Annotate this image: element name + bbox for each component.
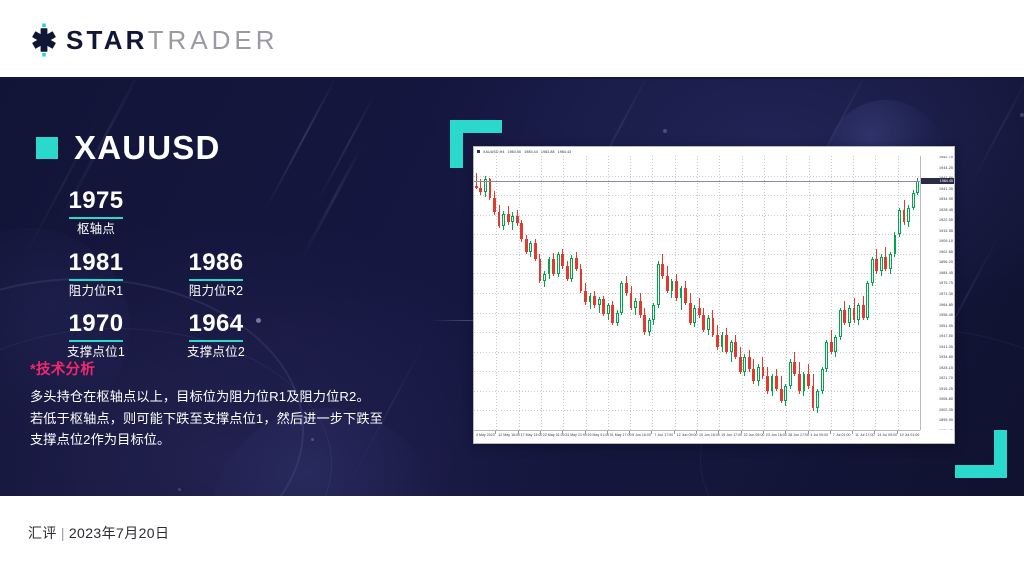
candlestick	[575, 156, 578, 430]
candlestick	[839, 156, 842, 430]
time-tick-label: 4 Jul 09:00	[811, 434, 829, 438]
candlestick	[529, 156, 532, 430]
time-axis[interactable]: 4 May 202312 May 16:0017 May 13:0022 May…	[474, 430, 920, 443]
candlestick	[502, 156, 505, 430]
candlestick	[625, 156, 628, 430]
candlestick	[843, 156, 846, 430]
candlestick	[584, 156, 587, 430]
pivot-value: 1964	[156, 311, 276, 337]
candlestick	[634, 156, 637, 430]
candlestick	[548, 156, 551, 430]
candlestick	[520, 156, 523, 430]
price-tick-label: 1928.45	[939, 209, 953, 213]
candlestick	[607, 156, 610, 430]
candlestick	[721, 156, 724, 430]
candlestick	[552, 156, 555, 430]
pivot-value: 1986	[156, 250, 276, 276]
candlestick	[684, 156, 687, 430]
footer-label: 汇评	[28, 525, 57, 541]
brand-name-light: TRADER	[148, 25, 279, 55]
candlestick	[784, 156, 787, 430]
price-tick-label: 1909.10	[939, 240, 953, 244]
candlestick	[771, 156, 774, 430]
technical-analysis-line: 若低于枢轴点，则可能下跌至支撑点位1，然后进一步下跌至	[30, 408, 402, 429]
candlestick	[821, 156, 824, 430]
candlestick	[493, 156, 496, 430]
candlestick	[489, 156, 492, 430]
candlestick	[812, 156, 815, 430]
candlestick	[657, 156, 660, 430]
chart-ohlc-open: 1984.50	[507, 150, 521, 154]
time-tick-label: 23 Jun 16:00	[766, 434, 787, 438]
candlestick	[698, 156, 701, 430]
pivot-label: 阻力位R2	[156, 285, 276, 299]
symbol-title-row: XAUUSD	[36, 131, 221, 164]
footer-separator: |	[61, 525, 65, 541]
chart-ohlc-close: 1984.43	[558, 150, 572, 154]
candlestick	[484, 156, 487, 430]
candlestick	[866, 156, 869, 430]
pivot-row: 1970 支撑点位1 1964 支撑点位2	[36, 311, 336, 360]
pivot-value: 1981	[36, 250, 156, 276]
pivot-row: 1975 枢轴点	[36, 188, 336, 237]
candlestick	[748, 156, 751, 430]
time-tick-label: 15 Jun 16:00	[699, 434, 720, 438]
candlestick	[539, 156, 542, 430]
price-tick-label: 1921.70	[939, 377, 953, 381]
pivot-row: 1981 阻力位R1 1986 阻力位R2	[36, 250, 336, 299]
footer-date: 2023年7月20日	[69, 525, 170, 541]
candlestick	[862, 156, 865, 430]
candlestick	[739, 156, 742, 430]
time-tick-label: 24 May 21:00	[565, 434, 587, 438]
candlestick	[884, 156, 887, 430]
price-tick-label: 1908.80	[939, 398, 953, 402]
candlestick	[889, 156, 892, 430]
candlestick	[834, 156, 837, 430]
candlestick	[766, 156, 769, 430]
page-header: STARTRADER	[0, 0, 1024, 78]
time-tick-label: 11 Jul 17:00	[855, 434, 874, 438]
price-tick-label: 1915.55	[939, 230, 953, 234]
candlestick	[780, 156, 783, 430]
candlestick	[693, 156, 696, 430]
price-chart[interactable]: XAUUSD,H4 1984.50 1985.44 1983.88 1984.4…	[473, 146, 955, 444]
candlestick	[652, 156, 655, 430]
technical-analysis-line: 支撑点位2作为目标位。	[30, 429, 402, 450]
price-tick-label: 1915.25	[939, 388, 953, 392]
brand-wordmark: STARTRADER	[66, 27, 279, 53]
resistance-1-cell: 1981 阻力位R1	[36, 250, 156, 299]
time-tick-label: 7 Jul 01:00	[833, 434, 851, 438]
pivot-underline	[69, 340, 123, 342]
candlestick	[871, 156, 874, 430]
time-tick-label: 12 Jun 09:00	[677, 434, 698, 438]
candlestick	[675, 156, 678, 430]
candlestick	[557, 156, 560, 430]
candlestick	[880, 156, 883, 430]
price-tick-label: 1952.70	[939, 156, 953, 160]
technical-analysis-block: *技术分析 多头持仓在枢轴点以上，目标位为阻力位R1及阻力位R2。 若低于枢轴点…	[30, 362, 402, 451]
candlestick	[798, 156, 801, 430]
candlestick	[825, 156, 828, 430]
candlestick	[630, 156, 633, 430]
header-divider	[0, 77, 1024, 79]
candlestick	[666, 156, 669, 430]
current-price-label: 1984.45	[920, 178, 954, 184]
price-tick-label: 1941.05	[939, 346, 953, 350]
support-2-cell: 1964 支撑点位2	[156, 311, 276, 360]
symbol-square-marker	[36, 137, 58, 159]
candlestick	[525, 156, 528, 430]
candlestick	[857, 156, 860, 430]
pivot-underline	[69, 279, 123, 281]
time-tick-label: 4 May 2023	[476, 434, 495, 438]
price-tick-label: 1975.75	[939, 282, 953, 286]
candlestick	[475, 156, 478, 430]
candlestick	[543, 156, 546, 430]
candlestick	[611, 156, 614, 430]
technical-analysis-heading: *技术分析	[30, 362, 402, 379]
candlestick	[566, 156, 569, 430]
candlestick	[903, 156, 906, 430]
candlestick	[511, 156, 514, 430]
candlestick	[702, 156, 705, 430]
candlestick	[639, 156, 642, 430]
candlestick	[648, 156, 651, 430]
candlestick	[752, 156, 755, 430]
time-tick-label: 22 Jun 09:00	[744, 434, 765, 438]
candlestick	[916, 156, 919, 430]
candlestick	[803, 156, 806, 430]
candlestick	[762, 156, 765, 430]
pivot-value: 1975	[36, 188, 156, 214]
candlestick	[570, 156, 573, 430]
price-axis[interactable]: 1952.701944.251947.801941.351934.901928.…	[920, 156, 954, 430]
candlestick	[689, 156, 692, 430]
chart-ohlc-high: 1985.44	[524, 150, 538, 154]
pivot-label: 支撑点位2	[156, 346, 276, 360]
candlestick	[907, 156, 910, 430]
page-title: XAUUSD	[74, 131, 221, 164]
candlestick	[730, 156, 733, 430]
candlestick	[620, 156, 623, 430]
pivot-label: 枢轴点	[36, 223, 156, 237]
crosshair-price-line	[474, 181, 920, 182]
corner-bracket-top-left	[450, 120, 502, 168]
candlestick	[580, 156, 583, 430]
pivot-underline	[189, 340, 243, 342]
analysis-card: STARTRADER	[0, 0, 1024, 576]
candlestick	[789, 156, 792, 430]
chart-ohlc-low: 1983.88	[541, 150, 555, 154]
support-1-cell: 1970 支撑点位1	[36, 311, 156, 360]
technical-analysis-body: 多头持仓在枢轴点以上，目标位为阻力位R1及阻力位R2。 若低于枢轴点，则可能下跌…	[30, 386, 402, 450]
candlestick	[848, 156, 851, 430]
candlestick	[616, 156, 619, 430]
price-tick-label: 1902.65	[939, 251, 953, 255]
time-tick-label: 22 May 01:00	[543, 434, 565, 438]
chart-header: XAUUSD,H4 1984.50 1985.44 1983.88 1984.4…	[474, 147, 954, 156]
time-tick-label: 31 May 17:00	[610, 434, 632, 438]
chart-plot-area[interactable]	[474, 156, 920, 430]
price-tick-label: 1928.15	[939, 367, 953, 371]
price-tick-label: 1947.50	[939, 335, 953, 339]
price-tick-label: 1971.30	[939, 293, 953, 297]
price-tick-label: 1941.35	[939, 188, 953, 192]
candlestick	[898, 156, 901, 430]
pivot-label: 支撑点位1	[36, 346, 156, 360]
candlestick	[507, 156, 510, 430]
corner-bracket-bottom-right	[955, 430, 1007, 478]
star-asterisk-icon	[27, 23, 61, 57]
candlestick	[602, 156, 605, 430]
candlestick	[661, 156, 664, 430]
time-tick-label: 12 May 16:00	[498, 434, 520, 438]
price-tick-label: 1944.25	[939, 167, 953, 171]
resistance-2-cell: 1986 阻力位R2	[156, 250, 276, 299]
brand-name-bold: STAR	[66, 25, 148, 55]
candlestick	[725, 156, 728, 430]
time-tick-label: 28 Jun 17:00	[788, 434, 809, 438]
candlestick	[516, 156, 519, 430]
candlestick	[680, 156, 683, 430]
price-tick-label: 1951.95	[939, 325, 953, 329]
candlestick	[707, 156, 710, 430]
price-tick-label: 1896.20	[939, 261, 953, 265]
time-tick-label: 17 May 13:00	[521, 434, 543, 438]
candlestick	[793, 156, 796, 430]
time-tick-label: 19 Jul 01:00	[900, 434, 920, 438]
price-tick-label: 1984.45	[939, 272, 953, 276]
time-tick-label: 29 May 01:00	[588, 434, 610, 438]
candlestick	[853, 156, 856, 430]
candlestick	[912, 156, 915, 430]
price-tick-label: 1902.35	[939, 409, 953, 413]
price-tick-label: 1922.00	[939, 219, 953, 223]
candlestick	[875, 156, 878, 430]
price-tick-label: 1934.90	[939, 198, 953, 202]
candlestick	[498, 156, 501, 430]
time-tick-label: 7 Jun 17:00	[654, 434, 673, 438]
candlestick	[598, 156, 601, 430]
candlestick	[816, 156, 819, 430]
page-footer: 汇评|2023年7月20日	[0, 496, 1024, 576]
candlestick	[671, 156, 674, 430]
candlestick	[830, 156, 833, 430]
candlestick	[757, 156, 760, 430]
candlestick	[534, 156, 537, 430]
price-tick-label: 1934.60	[939, 356, 953, 360]
candlestick	[775, 156, 778, 430]
pivot-value: 1970	[36, 311, 156, 337]
candlestick	[561, 156, 564, 430]
candlestick	[894, 156, 897, 430]
time-tick-label: 5 Jun 16:00	[632, 434, 651, 438]
technical-analysis-heading-text: 技术分析	[36, 362, 95, 378]
price-tick-label: 1964.85	[939, 304, 953, 308]
candlestick	[807, 156, 810, 430]
candlestick	[589, 156, 592, 430]
pivot-underline	[69, 217, 123, 219]
footer-caption: 汇评|2023年7月20日	[28, 523, 169, 543]
candlestick	[479, 156, 482, 430]
technical-analysis-line: 多头持仓在枢轴点以上，目标位为阻力位R1及阻力位R2。	[30, 386, 402, 407]
candlestick	[712, 156, 715, 430]
brand-logo[interactable]: STARTRADER	[27, 22, 279, 58]
pivot-levels: 1975 枢轴点 1981 阻力位R1 1986 阻力位R2	[36, 188, 336, 373]
candlestick	[716, 156, 719, 430]
candlestick	[593, 156, 596, 430]
candlestick	[743, 156, 746, 430]
price-tick-label: 1958.40	[939, 314, 953, 318]
candlestick	[643, 156, 646, 430]
pivot-underline	[189, 279, 243, 281]
pivot-label: 阻力位R1	[36, 285, 156, 299]
pivot-point-cell: 1975 枢轴点	[36, 188, 156, 237]
time-tick-label: 14 Jul 09:00	[877, 434, 897, 438]
candlestick	[734, 156, 737, 430]
price-tick-label: 1895.90	[939, 419, 953, 423]
time-tick-label: 19 Jun 17:00	[721, 434, 742, 438]
